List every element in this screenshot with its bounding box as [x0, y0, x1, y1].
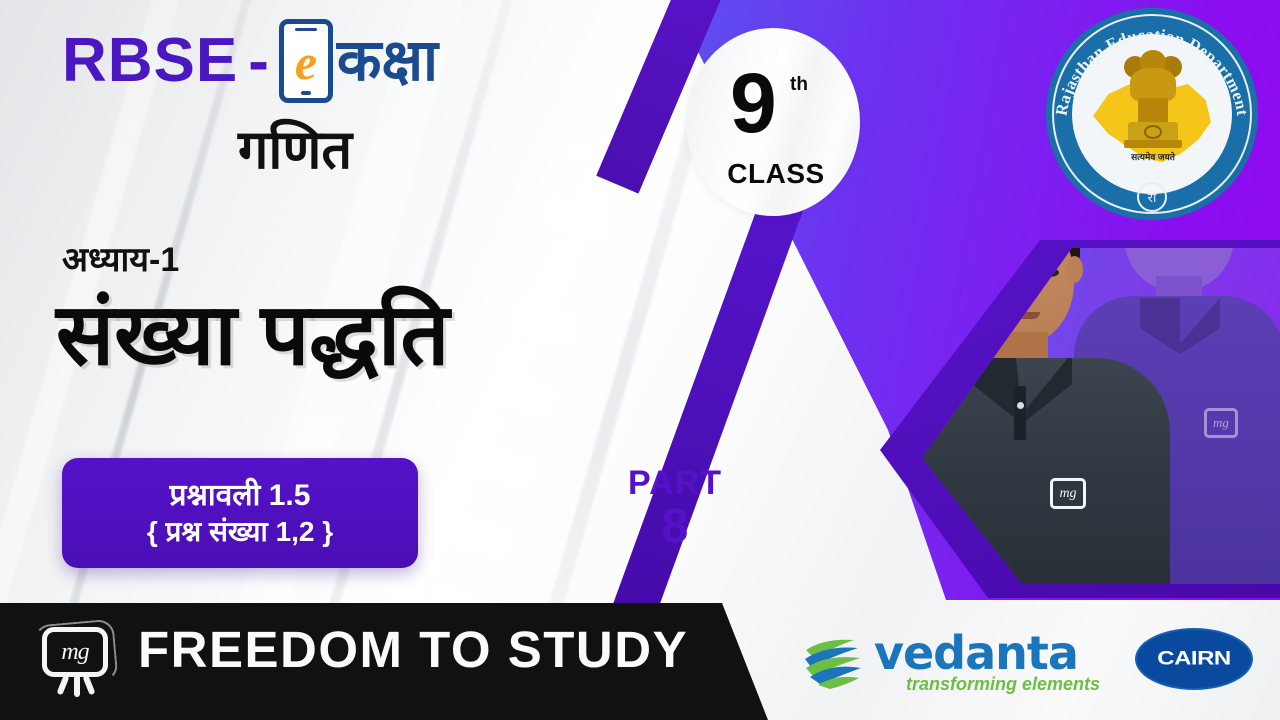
vedanta-tagline: transforming elements: [906, 674, 1100, 695]
part-indicator: PART 8: [600, 466, 750, 552]
lion-mane: [1130, 68, 1176, 102]
chapter-number: अध्याय-1: [62, 235, 179, 281]
logo-board: mg: [42, 627, 108, 677]
emblem-base: [1124, 140, 1182, 148]
vedanta-logo: vedanta transforming elements: [800, 622, 1130, 702]
brand-headline: RBSE - e कक्षा: [62, 20, 662, 102]
rajasthan-education-department-logo: Rajasthan Education Department सत्यमेव ज…: [1046, 8, 1258, 220]
vedanta-mark-icon: [800, 626, 866, 692]
ashoka-chakra-icon: [1144, 125, 1162, 139]
class-number: 9: [730, 64, 775, 144]
class-badge: 9 th CLASS: [686, 28, 860, 216]
exercise-questions: { प्रश्न संख्या 1,2 }: [147, 514, 333, 549]
e-letter: e: [295, 37, 317, 87]
logo-leg: [74, 675, 80, 697]
class-label: CLASS: [702, 158, 850, 190]
shirt-logo-icon: mg: [1050, 478, 1086, 509]
shirt-logo-icon: mg: [1204, 408, 1238, 438]
cairn-wordmark: CAIRN: [1157, 648, 1231, 671]
cairn-logo: CAIRN: [1135, 628, 1253, 690]
emblem-motto: सत्यमेव जयते: [1098, 150, 1208, 163]
part-label: PART: [600, 466, 750, 502]
thumbnail-canvas: mg mg 9 th CLASS: [0, 0, 1280, 720]
ashoka-emblem-icon: सत्यमेव जयते: [1124, 48, 1182, 160]
smartphone-e-icon: e: [279, 19, 333, 103]
ear: [1066, 256, 1083, 283]
chapter-title: संख्या पद्धति: [56, 290, 449, 380]
shirt-button: [1017, 402, 1024, 409]
vedanta-wordmark: vedanta: [874, 626, 1078, 680]
footer-tagline: FREEDOM TO STUDY: [138, 620, 688, 679]
exercise-badge: प्रश्नावली 1.5 { प्रश्न संख्या 1,2 }: [62, 458, 418, 568]
logo-board-text: mg: [47, 632, 103, 672]
logo-bottom-mark: रा: [1137, 182, 1167, 212]
mg-whiteboard-logo-icon: mg: [36, 623, 114, 697]
brand-dash: -: [248, 26, 269, 97]
brand-rbse-text: RBSE: [62, 30, 238, 92]
brand-kaksha-text: कक्षा: [337, 32, 438, 90]
exercise-name: प्रश्नावली 1.5: [170, 477, 311, 515]
class-ordinal: th: [790, 74, 808, 96]
shirt-placket: [1014, 386, 1026, 440]
part-number: 8: [600, 502, 750, 552]
subject-title: गणित: [238, 110, 352, 184]
